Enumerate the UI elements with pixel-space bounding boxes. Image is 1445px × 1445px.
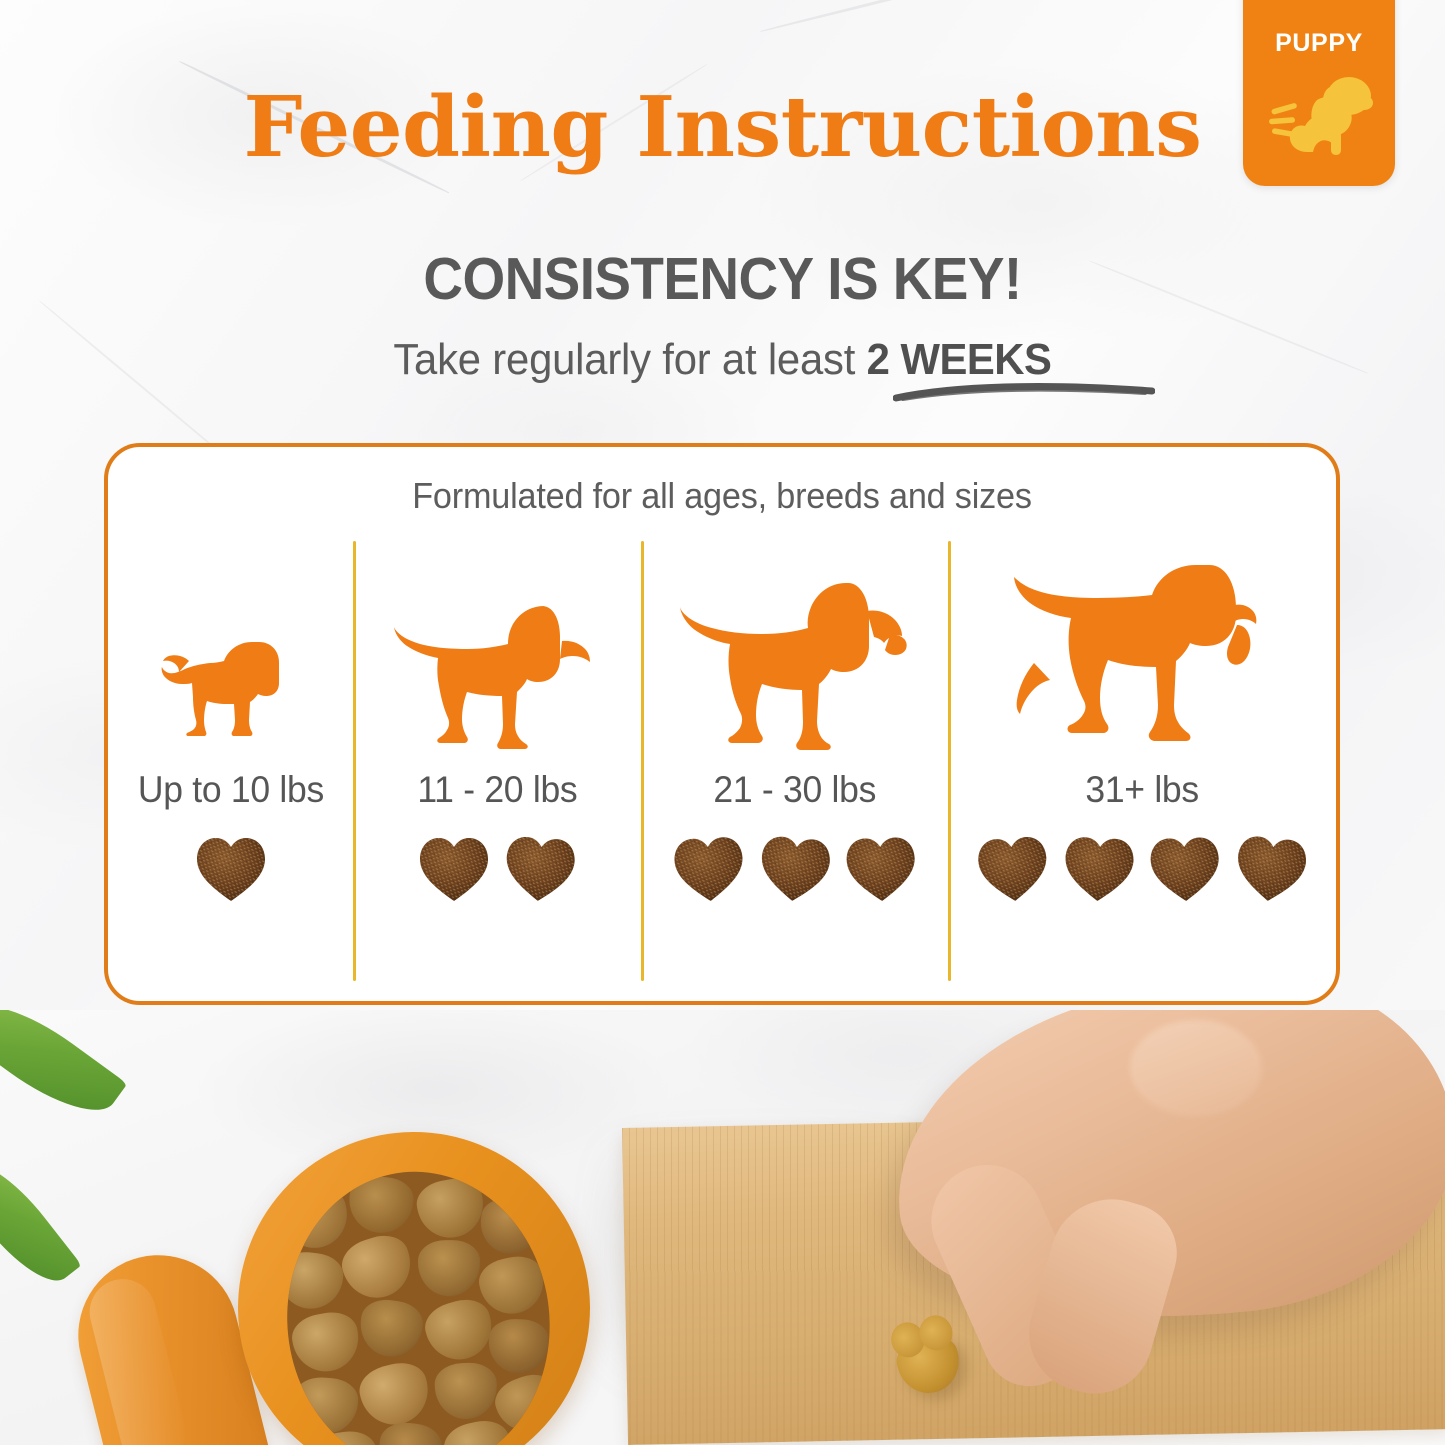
dog-slot <box>156 535 306 753</box>
feeding-chart-card: Formulated for all ages, breeds and size… <box>104 443 1340 1005</box>
small-puppy-silhouette-icon <box>156 631 306 753</box>
heart-kibble-treat-icon <box>415 833 493 905</box>
dog-slot <box>680 535 910 753</box>
heart-kibble-treat-icon <box>192 833 270 905</box>
lifestyle-photo <box>0 1010 1445 1445</box>
heart-kibble-treat-icon <box>668 831 750 907</box>
feeding-column-21-30-lbs: 21 - 30 lbs <box>641 535 948 1000</box>
dog-slot <box>394 535 600 753</box>
feeding-column-up-to-10-lbs: Up to 10 lbs <box>108 535 353 1000</box>
heart-kibble-treat-icon <box>840 832 920 907</box>
tagline-emphasis: 2 WEEKS <box>867 335 1052 384</box>
card-note: Formulated for all ages, breeds and size… <box>139 475 1306 517</box>
subtitle-consistency: CONSISTENCY IS KEY! <box>51 245 1395 313</box>
tagline-prefix: Take regularly for at least <box>393 335 866 384</box>
weight-label: 21 - 30 lbs <box>713 769 876 811</box>
weight-label: 31+ lbs <box>1085 769 1199 811</box>
sitting-puppy-icon <box>1265 66 1373 164</box>
feeding-column-11-20-lbs: 11 - 20 lbs <box>353 535 641 1000</box>
heart-kibble-treat-icon <box>972 830 1055 907</box>
heart-kibble-treat-icon <box>499 830 582 907</box>
kibble-piece <box>376 1420 444 1445</box>
heart-kibble-treat-icon <box>1228 829 1313 909</box>
heart-kibble-treat-icon <box>1145 832 1225 907</box>
treat-count-row <box>415 833 579 905</box>
mastiff-puppy-silhouette-icon <box>1011 557 1273 753</box>
tagline-row: Take regularly for at least 2 WEEKS <box>0 335 1445 385</box>
heart-kibble-treat-icon <box>753 830 837 909</box>
page-title: Feeding Instructions <box>0 84 1445 171</box>
labrador-puppy-silhouette-icon <box>394 593 600 753</box>
labrador-silhouette-icon <box>680 573 910 753</box>
puppy-badge: PUPPY <box>1243 0 1395 186</box>
treat-count-row <box>974 833 1310 905</box>
feeding-column-31-plus-lbs: 31+ lbs <box>948 535 1336 1000</box>
hand-knuckle <box>1130 1020 1262 1116</box>
weight-label: 11 - 20 lbs <box>417 769 577 811</box>
treat-count-row <box>192 833 270 905</box>
feeding-columns: Up to 10 lbs <box>108 535 1336 1000</box>
treat-count-row <box>670 833 920 905</box>
dog-slot <box>1011 535 1273 753</box>
heart-kibble-treat-icon <box>1058 831 1140 907</box>
puppy-badge-label: PUPPY <box>1243 29 1395 58</box>
underline-swoosh-icon <box>893 378 1155 404</box>
weight-label: Up to 10 lbs <box>137 769 323 811</box>
bowl-interior-kibble <box>272 1159 564 1445</box>
kibble-piece <box>308 1428 381 1445</box>
